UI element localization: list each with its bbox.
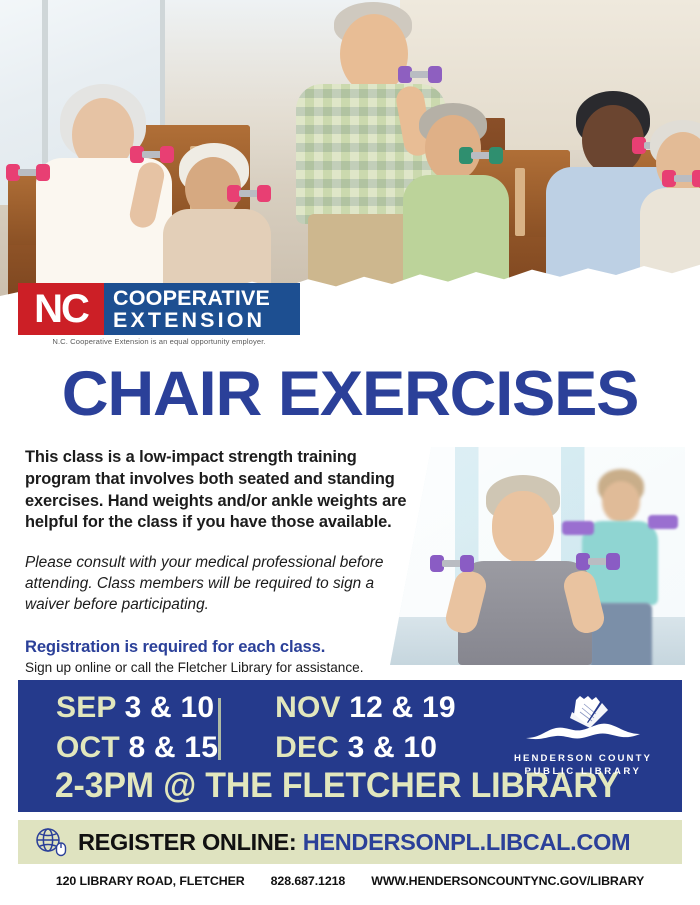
dumbbell — [398, 66, 442, 83]
dumbbell — [430, 555, 474, 572]
nc-logo-line2: EXTENSION — [113, 309, 300, 331]
footer-address: 120 LIBRARY ROAD, FLETCHER — [56, 874, 245, 888]
medical-disclaimer: Please consult with your medical profess… — [25, 552, 418, 615]
month-label: NOV — [275, 691, 341, 724]
dumbbell — [459, 147, 503, 164]
date-row: NOV 12 & 19 — [275, 688, 456, 728]
date-column-one: SEP 3 & 10 OCT 8 & 15 — [18, 688, 218, 768]
dumbbell — [662, 170, 700, 187]
book-mountain-icon — [524, 694, 642, 744]
nc-logo-line1: COOPERATIVE — [113, 287, 300, 309]
body-copy: This class is a low-impact strength trai… — [25, 447, 425, 675]
nc-logo-mark: NC — [18, 283, 104, 335]
library-logo-line1: HENDERSON COUNTY — [508, 753, 658, 764]
date-row: SEP 3 & 10 — [56, 688, 218, 728]
header-photo — [0, 0, 700, 300]
dumbbell — [576, 553, 620, 570]
person-man-glasses — [395, 85, 515, 300]
days-label: 3 & 10 — [348, 731, 438, 764]
equal-opportunity-disclaimer: N.C. Cooperative Extension is an equal o… — [18, 337, 300, 346]
page-title: CHAIR EXERCISES — [0, 358, 700, 430]
registration-heading: Registration is required for each class. — [25, 637, 425, 657]
register-online-bar[interactable]: REGISTER ONLINE: HENDERSONPL.LIBCAL.COM — [18, 820, 682, 864]
side-photo-woman-dumbbells — [390, 447, 685, 665]
date-row: OCT 8 & 15 — [56, 728, 218, 768]
footer-phone: 828.687.1218 — [271, 874, 346, 888]
nc-cooperative-extension-logo: NC COOPERATIVE EXTENSION N.C. Cooperativ… — [18, 283, 300, 346]
days-label: 8 & 15 — [128, 731, 218, 764]
class-description: This class is a low-impact strength trai… — [25, 447, 425, 534]
dumbbell — [227, 185, 271, 202]
person-woman-white-cardigan — [30, 50, 175, 300]
month-label: DEC — [275, 731, 339, 764]
register-url[interactable]: HENDERSONPL.LIBCAL.COM — [303, 829, 631, 855]
register-text: REGISTER ONLINE: HENDERSONPL.LIBCAL.COM — [78, 829, 630, 856]
month-label: SEP — [56, 691, 116, 724]
schedule-banner: SEP 3 & 10 OCT 8 & 15 NOV 12 & 19 DEC 3 … — [18, 680, 682, 812]
date-column-two: NOV 12 & 19 DEC 3 & 10 — [221, 688, 456, 768]
globe-mouse-icon — [34, 827, 68, 857]
library-logo-line2: PUBLIC LIBRARY — [508, 766, 658, 777]
date-row: DEC 3 & 10 — [275, 728, 456, 768]
footer: 120 LIBRARY ROAD, FLETCHER 828.687.1218 … — [0, 874, 700, 888]
person-woman-headscarf — [155, 85, 275, 300]
month-label: OCT — [56, 731, 120, 764]
column-divider — [218, 698, 221, 760]
henderson-county-public-library-logo: HENDERSON COUNTY PUBLIC LIBRARY — [508, 694, 658, 777]
registration-subtext: Sign up online or call the Fletcher Libr… — [25, 660, 425, 675]
person-foreground-woman — [450, 475, 600, 665]
dumbbell — [6, 164, 50, 181]
footer-website[interactable]: WWW.HENDERSONCOUNTYNC.GOV/LIBRARY — [371, 874, 644, 888]
register-label: REGISTER ONLINE: — [78, 829, 296, 855]
days-label: 3 & 10 — [125, 691, 215, 724]
days-label: 12 & 19 — [349, 691, 455, 724]
